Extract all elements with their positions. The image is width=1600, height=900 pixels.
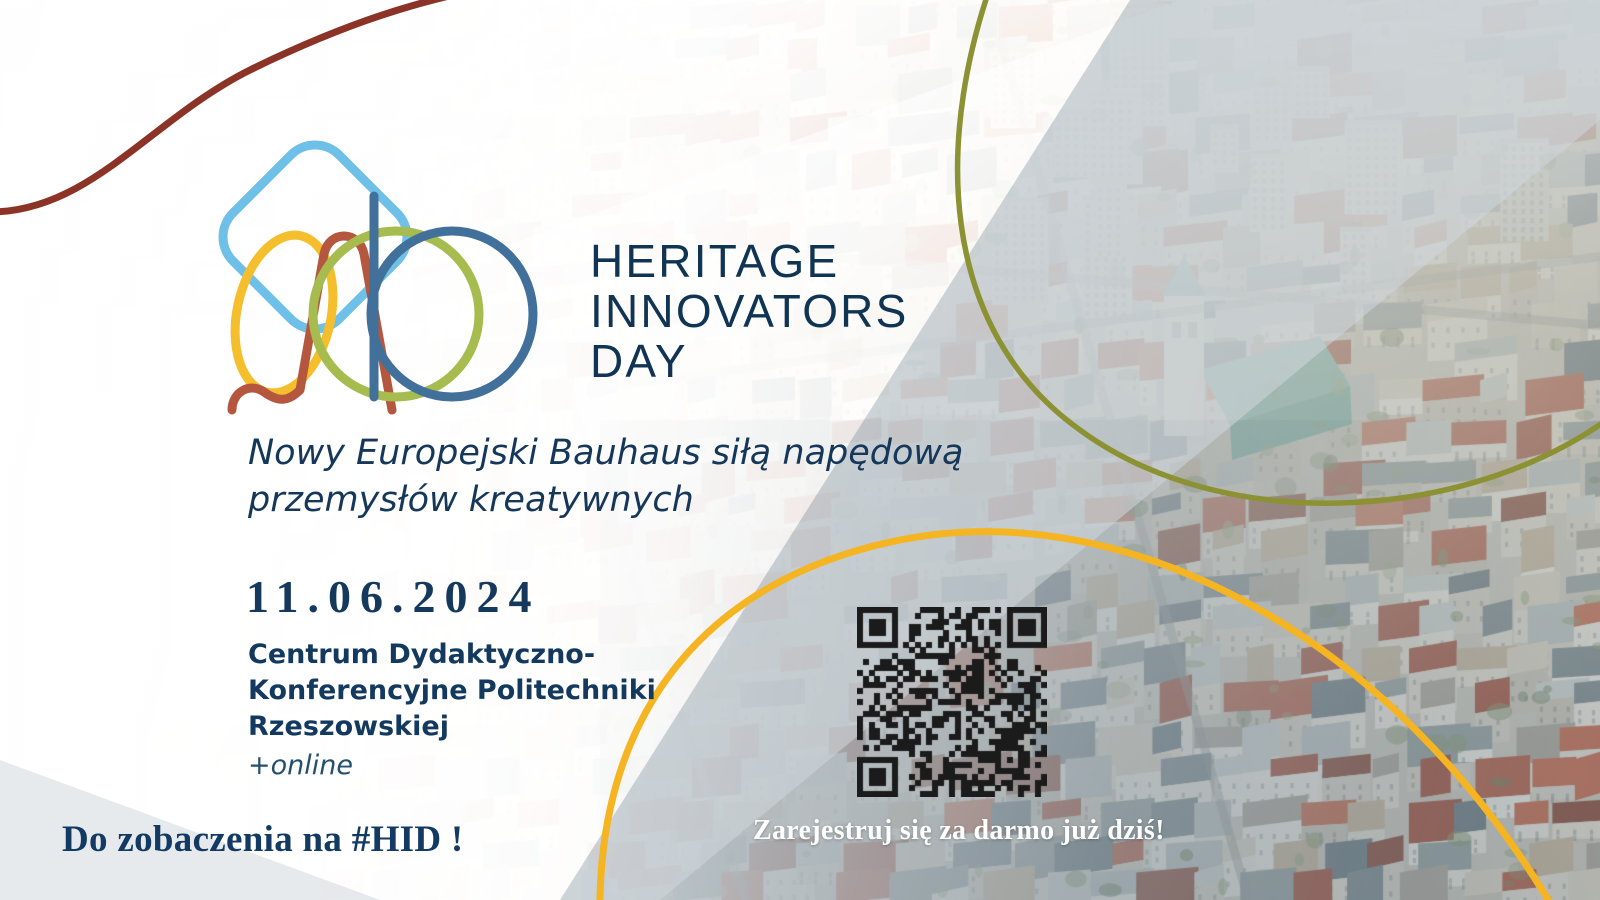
olive-circle-arc [958,0,1600,503]
registration-qr-code[interactable] [857,607,1047,797]
poster-tagline: Nowy Europejski Bauhaus siłą napędową pr… [248,430,1008,523]
event-venue: Centrum Dydaktyczno- Konferencyjne Polit… [248,637,668,745]
logo-wordmark: HERITAGE INNOVATORS DAY [590,236,908,386]
event-poster: HERITAGE INNOVATORS DAY Nowy Europejski … [0,0,1600,900]
online-participation-note: +online [248,750,353,781]
registration-cta-text: Zarejestruj się za darmo już dziś! [753,815,1165,847]
hid-logo-mark [196,124,546,424]
farewell-hashtag-line: Do zobaczenia na #HID ! [62,818,464,861]
event-date: 11.06.2024 [246,570,540,623]
